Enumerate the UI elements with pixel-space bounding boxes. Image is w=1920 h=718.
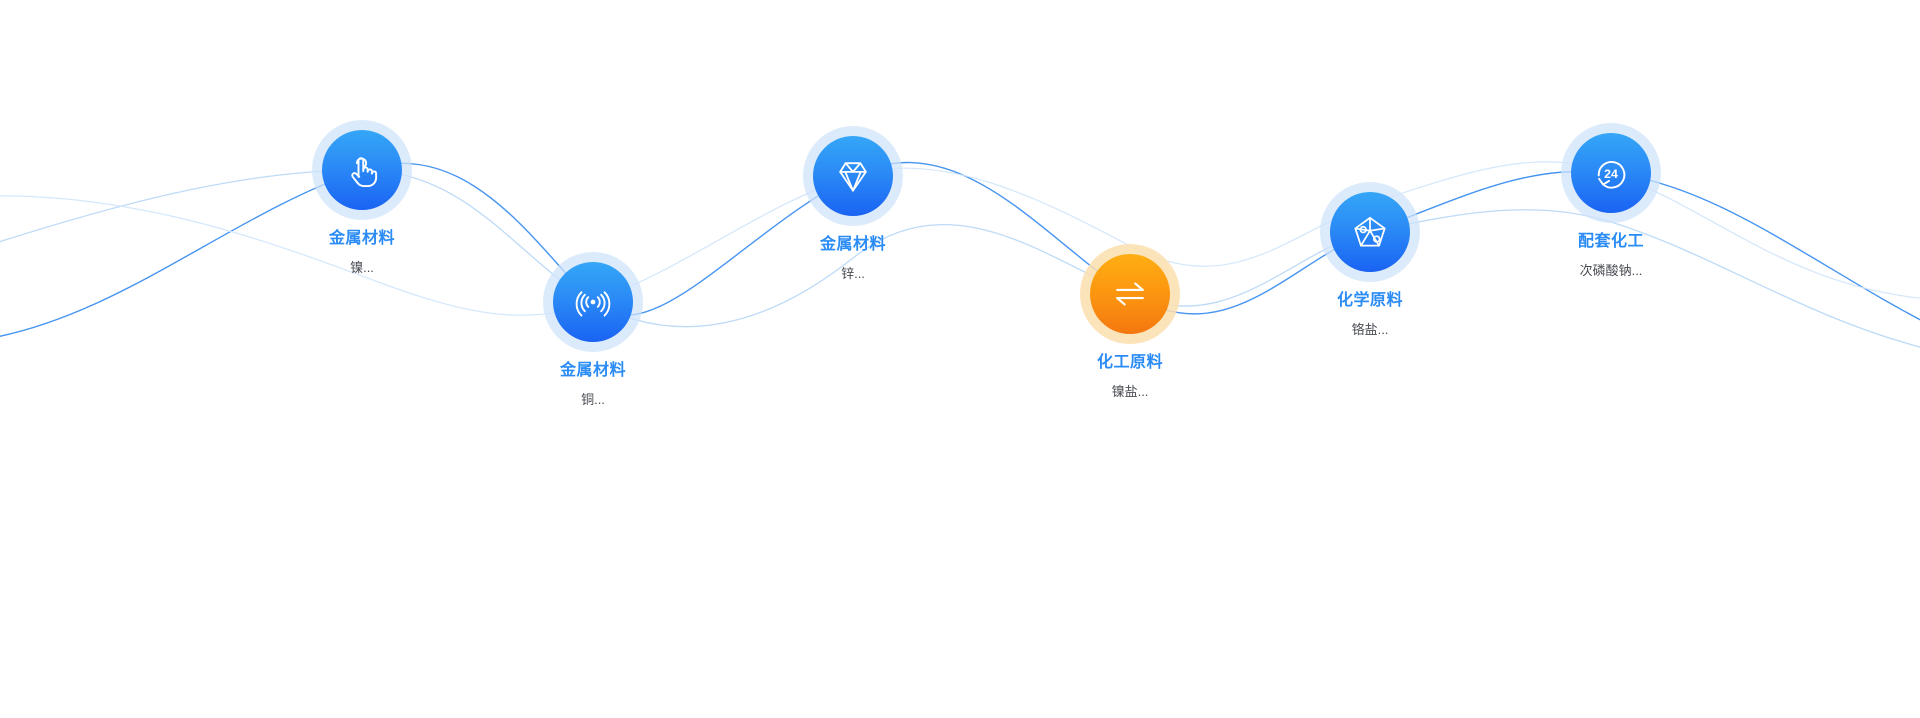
connection-curves [0, 0, 1920, 718]
node-disc[interactable] [553, 262, 633, 342]
node-disc[interactable] [322, 130, 402, 210]
node-title: 金属材料 [252, 228, 472, 250]
exchange-arrows-icon [1108, 272, 1152, 316]
node-label-group: 配套化工次磷酸钠... [1501, 231, 1721, 280]
supply-chain-flow-canvas: 金属材料镍...金属材料铜...金属材料锌...化工原料镍盐...化学原料铬盐.… [0, 0, 1920, 718]
svg-text:24: 24 [1604, 167, 1618, 181]
node-label-group: 金属材料镍... [252, 228, 472, 277]
node-disc[interactable] [1330, 192, 1410, 272]
diamond-icon [831, 154, 875, 198]
node-disc[interactable] [1090, 254, 1170, 334]
node-subtitle: 锌... [743, 265, 963, 283]
node-title: 金属材料 [483, 360, 703, 382]
touch-hand-icon [340, 148, 384, 192]
node-title: 金属材料 [743, 234, 963, 256]
node-disc[interactable] [813, 136, 893, 216]
node-disc[interactable]: 24 [1571, 133, 1651, 213]
node-label-group: 化工原料镍盐... [1020, 352, 1240, 401]
node-label-group: 金属材料锌... [743, 234, 963, 283]
service-24h-icon: 24 [1589, 151, 1633, 195]
node-subtitle: 次磷酸钠... [1501, 262, 1721, 280]
node-subtitle: 铬盐... [1260, 321, 1480, 339]
molecule-pentagon-icon [1348, 210, 1392, 254]
node-subtitle: 镍... [252, 259, 472, 277]
node-subtitle: 镍盐... [1020, 383, 1240, 401]
node-label-group: 化学原料铬盐... [1260, 290, 1480, 339]
node-title: 配套化工 [1501, 231, 1721, 253]
node-title: 化工原料 [1020, 352, 1240, 374]
node-title: 化学原料 [1260, 290, 1480, 312]
signal-radar-icon [571, 280, 615, 324]
node-subtitle: 铜... [483, 391, 703, 409]
node-label-group: 金属材料铜... [483, 360, 703, 409]
